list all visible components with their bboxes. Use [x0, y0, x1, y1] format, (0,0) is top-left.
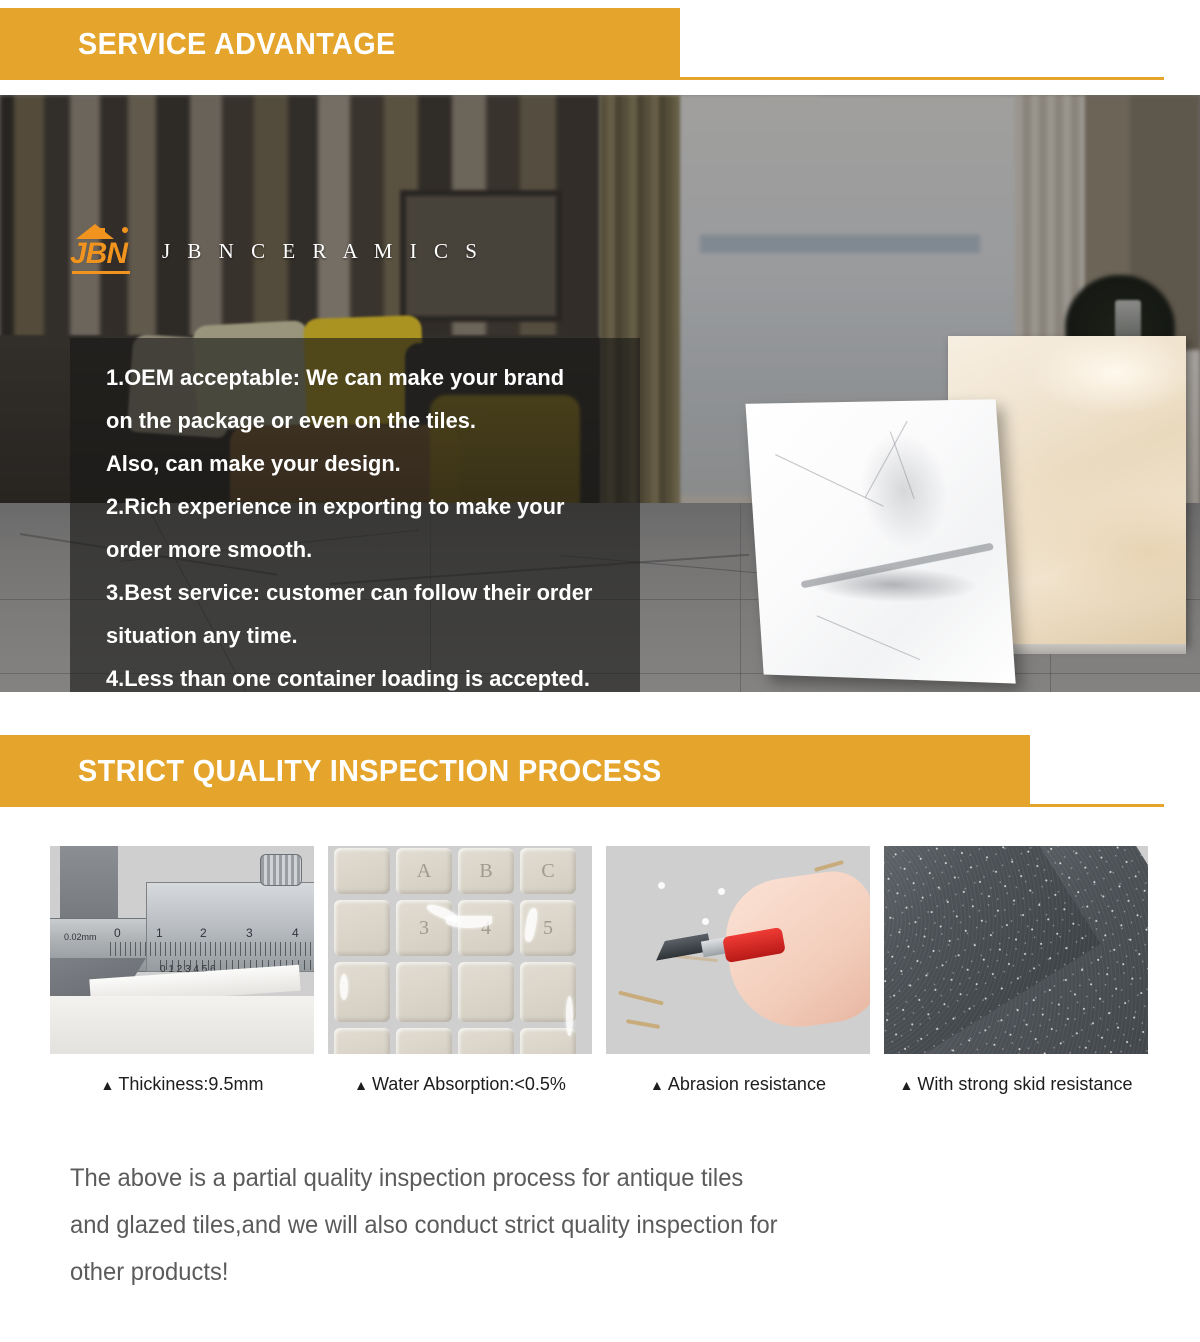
caption-skid-resistance: ▲With strong skid resistance [884, 1074, 1148, 1095]
banner-underline-quality [0, 804, 1164, 807]
footnote-line-3: other products! [70, 1249, 1058, 1296]
advantage-text-panel: 1.OEM acceptable: We can make your brand… [70, 338, 640, 692]
page-title-quality-inspection: STRICT QUALITY INSPECTION PROCESS [78, 735, 662, 807]
caption-abrasion-text: Abrasion resistance [668, 1074, 826, 1094]
service-advantage-banner: SERVICE ADVANTAGE [0, 8, 1200, 80]
quality-inspection-banner: STRICT QUALITY INSPECTION PROCESS [0, 735, 1200, 807]
advantage-line-5: order more smooth. [106, 528, 603, 571]
logo-mark-text: JBN [70, 237, 127, 271]
brand-logo: JBN J B N C E R A M I C S [70, 227, 483, 275]
quality-inspection-section: STRICT QUALITY INSPECTION PROCESS [0, 735, 1200, 807]
grid-cell [334, 1028, 390, 1054]
advantage-line-8: 4.Less than one container loading is acc… [106, 657, 603, 692]
inspection-photo-grid: 0 1 2 3 4 0 1 2 3 4 5 6 0.02mm ▲Thickine… [50, 846, 1150, 1095]
inspection-item-abrasion: ▲Abrasion resistance [606, 846, 870, 1095]
service-advantage-section: SERVICE ADVANTAGE [0, 8, 1200, 80]
grid-cell [334, 900, 390, 956]
quality-footnote: The above is a partial quality inspectio… [70, 1155, 1110, 1296]
grid-cell [396, 1028, 452, 1054]
triangle-marker-icon: ▲ [354, 1077, 368, 1093]
footnote-line-1: The above is a partial quality inspectio… [70, 1155, 1058, 1202]
triangle-marker-icon: ▲ [101, 1077, 115, 1093]
inspection-item-water-absorption: A B C 3 4 5 ▲Water Absorption:<0.5% [328, 846, 592, 1095]
inspection-item-skid-resistance: ▲With strong skid resistance [884, 846, 1148, 1095]
inspection-item-thickness: 0 1 2 3 4 0 1 2 3 4 5 6 0.02mm ▲Thickine… [50, 846, 314, 1095]
water-droplet [566, 996, 573, 1036]
page-title-service-advantage: SERVICE ADVANTAGE [78, 8, 396, 80]
logo-dot-icon [122, 227, 128, 233]
advantage-line-1: 1.OEM acceptable: We can make your brand [106, 356, 603, 399]
grid-cell: B [458, 848, 514, 894]
grid-cell [334, 848, 390, 894]
photo-tile-back-grid: A B C 3 4 5 [328, 846, 592, 1054]
grid-cell: A [396, 848, 452, 894]
grid-cell: C [520, 848, 576, 894]
chimney-shape-icon [100, 228, 105, 237]
water-droplet [446, 916, 492, 928]
advantage-line-4: 2.Rich experience in exporting to make y… [106, 485, 603, 528]
grid-cell [396, 962, 452, 1022]
advantage-line-7: situation any time. [106, 614, 603, 657]
photo-skid-resistance-tiles [884, 846, 1148, 1054]
hero-section: JBN J B N C E R A M I C S 1.OEM acceptab… [0, 95, 1200, 692]
caliper-knob-icon [260, 854, 302, 886]
grid-cell: 4 [458, 900, 514, 956]
photo-knife-scratch-test [606, 846, 870, 1054]
photo-vernier-caliper: 0 1 2 3 4 0 1 2 3 4 5 6 0.02mm [50, 846, 314, 1054]
caption-thickness-text: Thickiness:9.5mm [118, 1074, 263, 1094]
grid-cell [458, 1028, 514, 1054]
triangle-marker-icon: ▲ [900, 1077, 914, 1093]
footnote-line-2: and glazed tiles,and we will also conduc… [70, 1202, 1058, 1249]
brand-name: J B N C E R A M I C S [162, 239, 483, 264]
water-droplet [340, 974, 348, 1000]
advantage-line-2: on the package or even on the tiles. [106, 399, 603, 442]
hero-interior-photo: JBN J B N C E R A M I C S 1.OEM acceptab… [0, 95, 1200, 692]
triangle-marker-icon: ▲ [650, 1077, 664, 1093]
banner-underline-advantage [0, 77, 1164, 80]
caption-skid-resistance-text: With strong skid resistance [917, 1074, 1132, 1094]
advantage-line-3: Also, can make your design. [106, 442, 603, 485]
grid-cell [458, 962, 514, 1022]
caption-water-absorption-text: Water Absorption:<0.5% [372, 1074, 566, 1094]
advantage-line-6: 3.Best service: customer can follow thei… [106, 571, 603, 614]
caption-water-absorption: ▲Water Absorption:<0.5% [328, 1074, 592, 1095]
logo-underline [72, 271, 130, 274]
jbn-house-logo-icon: JBN [70, 227, 136, 275]
tile-sample-white-marble [745, 399, 1015, 683]
caption-abrasion: ▲Abrasion resistance [606, 1074, 870, 1095]
caption-thickness: ▲Thickiness:9.5mm [50, 1074, 314, 1095]
